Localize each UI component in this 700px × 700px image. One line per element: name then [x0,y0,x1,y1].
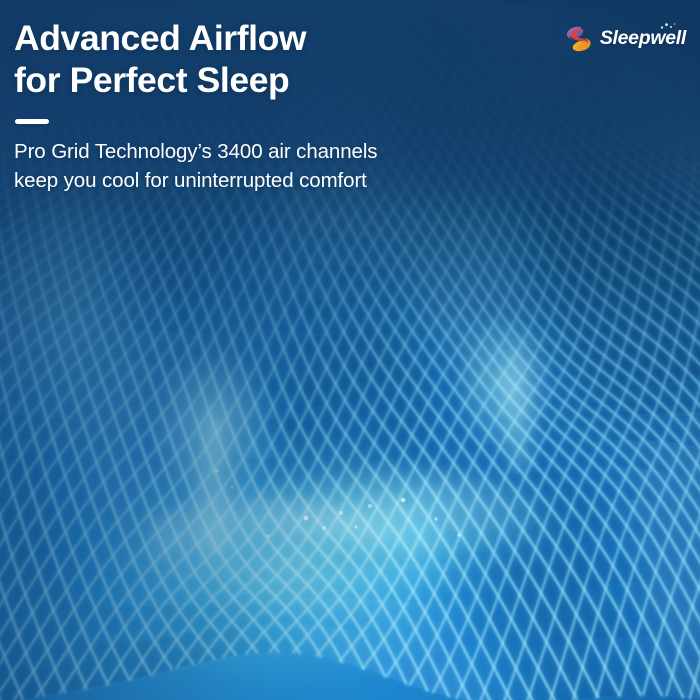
sleepwell-advanced-airflow-banner: Advanced Airflow for Perfect Sleep Pro G… [0,0,700,700]
sleepwell-wordmark-text: Sleepwell [600,27,686,49]
banner-copy-block: Advanced Airflow for Perfect Sleep Pro G… [14,17,534,195]
page-title: Advanced Airflow for Perfect Sleep [14,17,534,101]
sleepwell-s-swirl-icon [564,25,594,53]
sleepwell-logo: Sleepwell [564,25,686,53]
subtitle-line-2: keep you cool for uninterrupted comfort [14,166,534,195]
subtitle-line-1: Pro Grid Technology’s 3400 air channels [14,137,534,166]
headline-line-1: Advanced Airflow [14,17,534,59]
headline-line-2: for Perfect Sleep [14,59,534,101]
subtitle: Pro Grid Technology’s 3400 air channels … [14,137,534,195]
sleepwell-wordmark: Sleepwell [600,29,686,49]
accent-divider [15,119,49,124]
